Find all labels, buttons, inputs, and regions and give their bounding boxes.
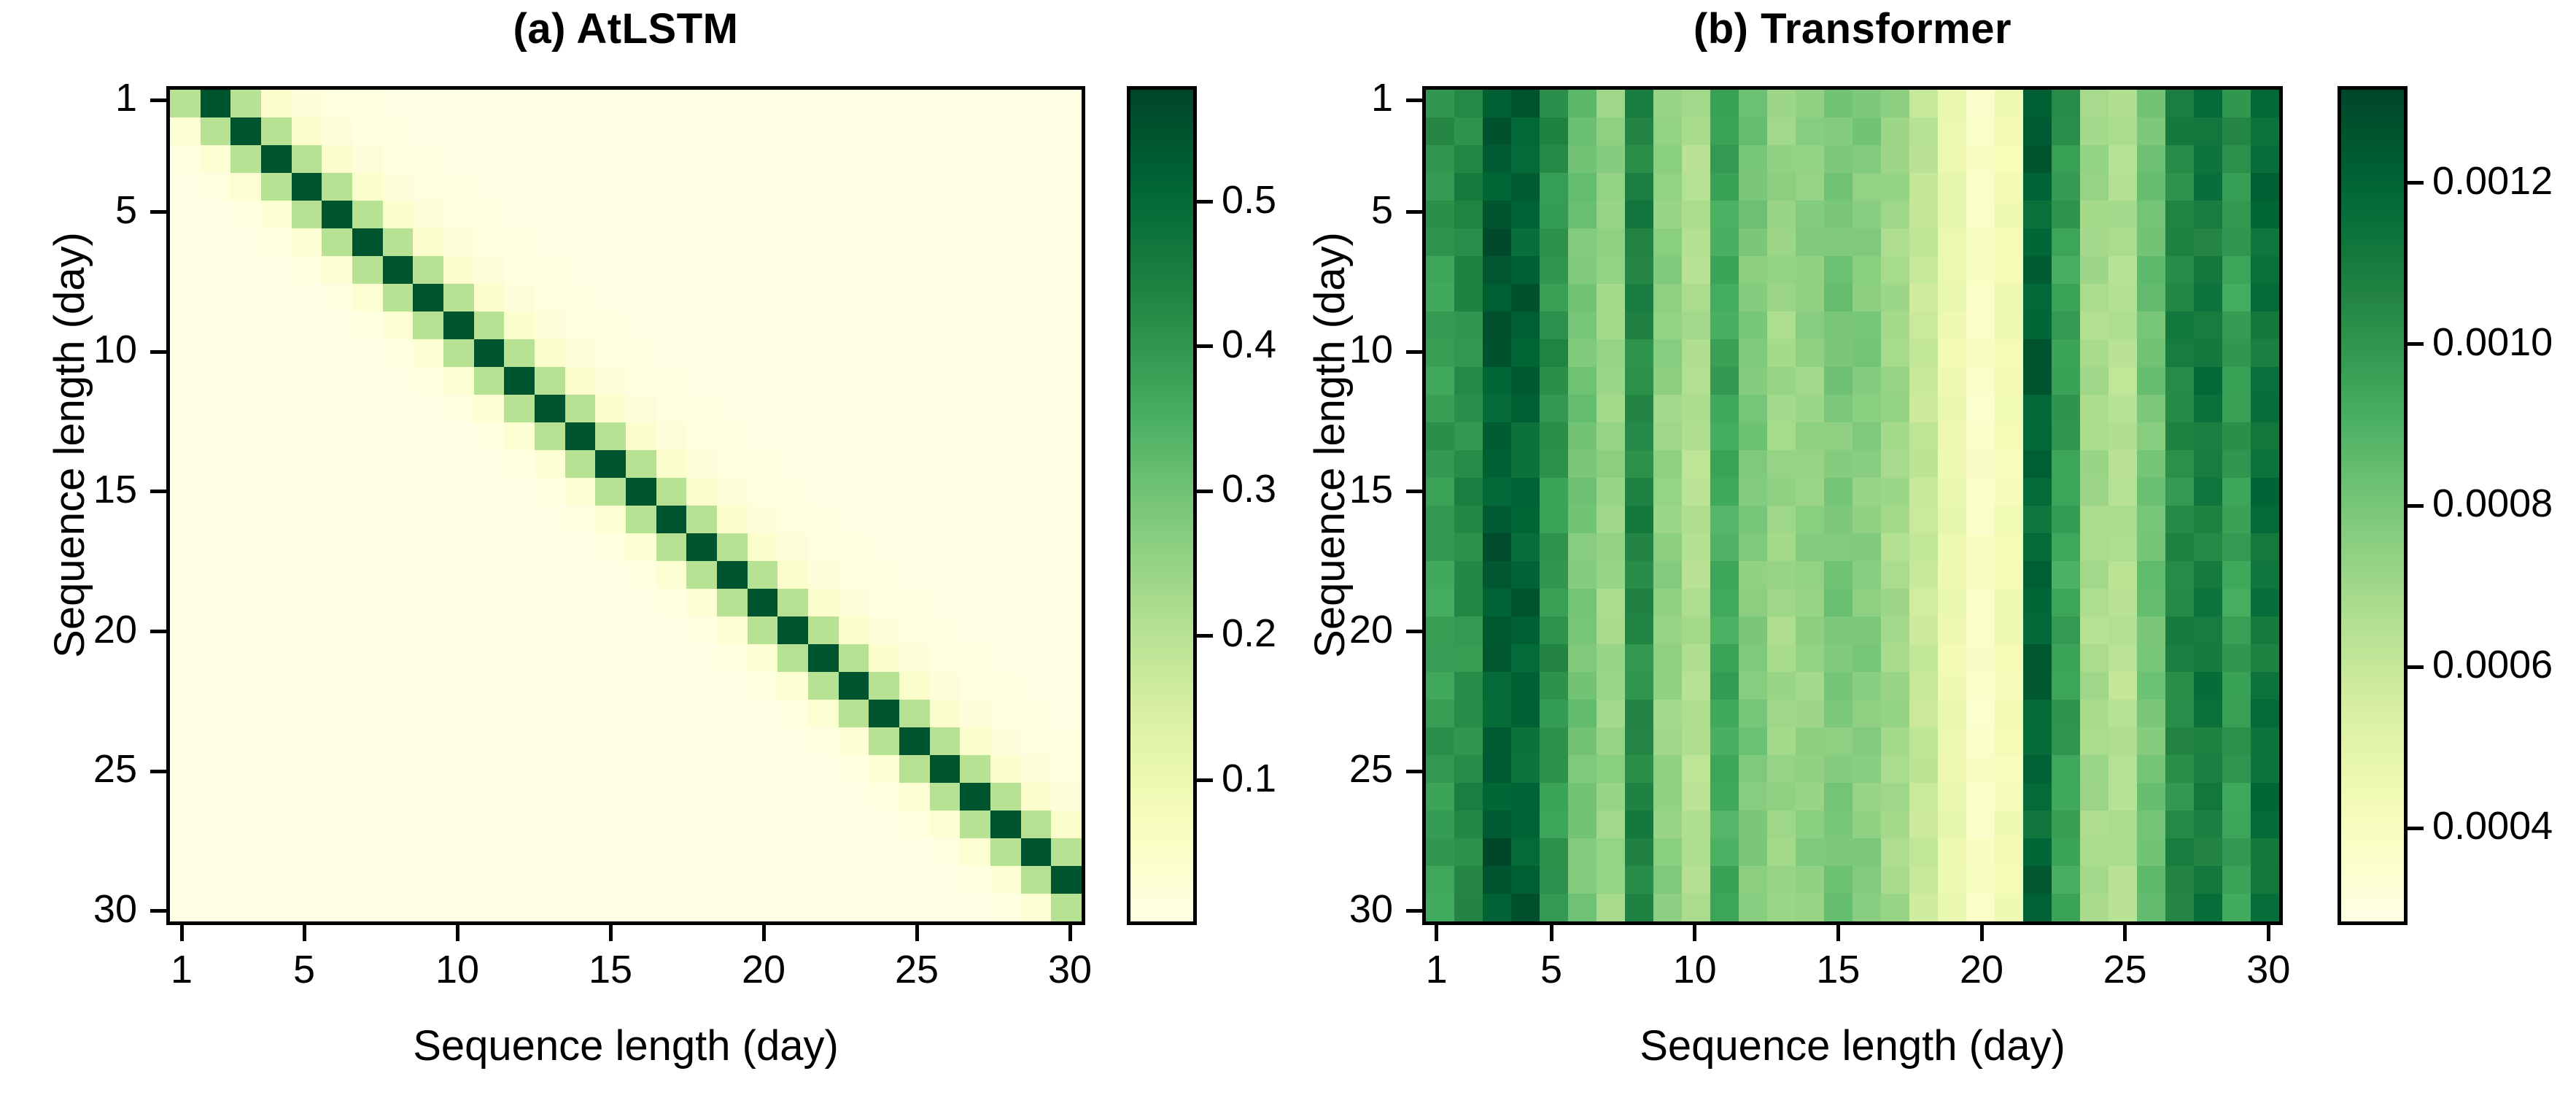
- x-tick: [1836, 925, 1840, 941]
- heatmap-b-cell: [1710, 727, 1739, 755]
- heatmap-a-cell: [443, 312, 474, 339]
- heatmap-b-cell: [1739, 422, 1767, 450]
- heatmap-a-cell: [1021, 561, 1052, 589]
- heatmap-b-cell: [1710, 395, 1739, 422]
- heatmap-b-cell: [1881, 422, 1909, 450]
- heatmap-a-cell: [869, 145, 899, 173]
- heatmap-a-cell: [535, 589, 565, 616]
- heatmap-a-cell: [686, 256, 717, 284]
- heatmap-a-cell: [686, 395, 717, 422]
- heatmap-b-cell: [1767, 339, 1796, 367]
- heatmap-b-cell: [1824, 755, 1853, 783]
- heatmap-b-cell: [1767, 312, 1796, 339]
- heatmap-a-cell: [201, 450, 231, 478]
- heatmap-a-cell: [1021, 755, 1052, 783]
- heatmap-a-cell: [261, 783, 292, 811]
- heatmap-b-cell: [1597, 284, 1625, 312]
- heatmap-b-cell: [1426, 589, 1454, 616]
- heatmap-a-cell: [261, 90, 292, 117]
- heatmap-b-cell: [1540, 284, 1568, 312]
- heatmap-b-cell: [1881, 367, 1909, 395]
- heatmap-a-cell: [990, 312, 1021, 339]
- heatmap-b-cell: [1909, 811, 1938, 838]
- heatmap-b-cell: [1426, 256, 1454, 284]
- heatmap-b-cell: [1483, 894, 1511, 921]
- heatmap-a-cell: [595, 727, 626, 755]
- heatmap-b-cell: [1796, 145, 1824, 173]
- heatmap-b-cell: [1454, 284, 1483, 312]
- heatmap-a-cell: [322, 173, 352, 201]
- heatmap-a-cell: [170, 783, 201, 811]
- heatmap-a-cell: [443, 228, 474, 256]
- heatmap-a-cell: [869, 783, 899, 811]
- heatmap-b-cell: [1454, 672, 1483, 700]
- heatmap-b-cell: [2251, 173, 2279, 201]
- heatmap-b-cell: [1938, 228, 1966, 256]
- heatmap-a-cell: [626, 228, 656, 256]
- heatmap-b-cell: [1938, 90, 1966, 117]
- heatmap-b-cell: [2080, 284, 2108, 312]
- heatmap-b-cell: [1597, 533, 1625, 561]
- heatmap-b-cell: [1426, 90, 1454, 117]
- heatmap-b-cell: [2023, 422, 2052, 450]
- heatmap-b-cell: [2137, 755, 2165, 783]
- heatmap-b-cell: [1511, 117, 1540, 145]
- heatmap-a-cell: [899, 117, 930, 145]
- heatmap-a-cell: [383, 755, 414, 783]
- heatmap-a-cell: [656, 117, 687, 145]
- heatmap-a-cell: [686, 228, 717, 256]
- heatmap-b-cell: [1909, 672, 1938, 700]
- heatmap-b-cell: [1710, 90, 1739, 117]
- heatmap-b-cell: [1682, 145, 1710, 173]
- heatmap-b-cell: [2052, 422, 2080, 450]
- colorbar-tick: [2408, 342, 2424, 346]
- heatmap-b-cell: [1511, 450, 1540, 478]
- heatmap-b-cell: [1966, 312, 1995, 339]
- heatmap-a-cell: [899, 616, 930, 644]
- heatmap-a-cell: [595, 589, 626, 616]
- heatmap-a-cell: [748, 450, 778, 478]
- heatmap-b-cell: [1483, 117, 1511, 145]
- heatmap-a-cell: [565, 173, 596, 201]
- heatmap-b-cell: [1966, 367, 1995, 395]
- heatmap-b-cell: [1540, 339, 1568, 367]
- heatmap-b-cell: [2251, 561, 2279, 589]
- heatmap-b-cell: [1966, 672, 1995, 700]
- heatmap-a-cell: [930, 616, 961, 644]
- heatmap-b-cell: [1966, 506, 1995, 533]
- heatmap-a-cell: [990, 339, 1021, 367]
- heatmap-b-cell: [1739, 256, 1767, 284]
- heatmap-b-cell: [2251, 866, 2279, 894]
- heatmap-b-cell: [1454, 811, 1483, 838]
- heatmap-a-cell: [717, 117, 748, 145]
- heatmap-b-cell: [1966, 450, 1995, 478]
- heatmap-b-cell: [2052, 117, 2080, 145]
- heatmap-b-cell: [1739, 672, 1767, 700]
- heatmap-a-cell: [869, 117, 899, 145]
- heatmap-b-cell: [1454, 145, 1483, 173]
- heatmap-a-cell: [960, 284, 990, 312]
- heatmap-b-cell: [2251, 533, 2279, 561]
- heatmap-a-cell: [656, 589, 687, 616]
- heatmap-b-cell: [2222, 256, 2251, 284]
- heatmap-a-cell: [990, 672, 1021, 700]
- heatmap-a-cell: [960, 395, 990, 422]
- heatmap-b-cell: [1682, 339, 1710, 367]
- heatmap-a-cell: [686, 173, 717, 201]
- heatmap-a-cell: [565, 145, 596, 173]
- heatmap-a-cell: [413, 312, 443, 339]
- heatmap-a-cell: [230, 755, 261, 783]
- heatmap-a-cell: [170, 894, 201, 921]
- heatmap-b-cell: [1454, 117, 1483, 145]
- heatmap-a-cell: [777, 395, 808, 422]
- heatmap-a-cell: [777, 145, 808, 173]
- heatmap-a-cell: [869, 478, 899, 506]
- heatmap-b-cell: [2251, 228, 2279, 256]
- heatmap-b-cell: [2194, 755, 2222, 783]
- heatmap-b-cell: [1909, 894, 1938, 921]
- heatmap-b-cell: [1454, 90, 1483, 117]
- heatmap-a-cell: [748, 90, 778, 117]
- heatmap-a-cell: [474, 561, 505, 589]
- heatmap-b-cell: [2080, 90, 2108, 117]
- heatmap-a-cell: [535, 145, 565, 173]
- heatmap-b-cell: [2222, 284, 2251, 312]
- heatmap-a-cell: [170, 312, 201, 339]
- heatmap-b-cell: [1767, 256, 1796, 284]
- heatmap-a-cell: [504, 866, 535, 894]
- heatmap-a-cell: [504, 727, 535, 755]
- heatmap-a-cell: [626, 533, 656, 561]
- heatmap-a-cell: [960, 866, 990, 894]
- heatmap-b-cell: [1426, 727, 1454, 755]
- heatmap-a-cell: [1051, 339, 1082, 367]
- heatmap-a-cell: [443, 367, 474, 395]
- heatmap-a-cell: [748, 811, 778, 838]
- heatmap-a-cell: [717, 589, 748, 616]
- heatmap-a-cell: [930, 866, 961, 894]
- heatmap-a-cell: [535, 173, 565, 201]
- heatmap-a-cell: [1021, 727, 1052, 755]
- heatmap-a-cell: [261, 616, 292, 644]
- heatmap-a-cell: [261, 422, 292, 450]
- heatmap-b-cell: [1540, 700, 1568, 727]
- heatmap-a-cell: [230, 561, 261, 589]
- heatmap-b-cell: [2023, 506, 2052, 533]
- heatmap-a-cell: [292, 838, 322, 866]
- heatmap-a-cell: [170, 811, 201, 838]
- heatmap-a-cell: [535, 561, 565, 589]
- heatmap-b-cell: [1767, 616, 1796, 644]
- heatmap-b-cell: [2108, 312, 2137, 339]
- heatmap-b-cell: [2251, 894, 2279, 921]
- heatmap-b-cell: [2023, 727, 2052, 755]
- heatmap-a-cell: [170, 561, 201, 589]
- heatmap-a-cell: [474, 145, 505, 173]
- heatmap-b-cell: [1767, 783, 1796, 811]
- heatmap-a-cell: [748, 478, 778, 506]
- heatmap-a-cell: [292, 589, 322, 616]
- heatmap-a-cell: [1021, 395, 1052, 422]
- heatmap-b-cell: [1454, 894, 1483, 921]
- heatmap-b-cell: [1625, 644, 1653, 672]
- heatmap-a-cell: [565, 700, 596, 727]
- x-tick: [180, 925, 184, 941]
- heatmap-b-cell: [2108, 117, 2137, 145]
- heatmap-a-cell: [261, 838, 292, 866]
- heatmap-a-cell: [777, 256, 808, 284]
- heatmap-a-cell: [930, 811, 961, 838]
- heatmap-b-cell: [2251, 700, 2279, 727]
- heatmap-a-cell: [201, 700, 231, 727]
- heatmap-b-cell: [1625, 228, 1653, 256]
- heatmap-b-cell: [1767, 395, 1796, 422]
- x-tick: [915, 925, 919, 941]
- heatmap-b-cell: [1597, 727, 1625, 755]
- heatmap-a-cell: [1051, 589, 1082, 616]
- heatmap-a-cell: [201, 838, 231, 866]
- heatmap-b-cell: [1568, 312, 1597, 339]
- heatmap-b-cell: [1796, 117, 1824, 145]
- colorbar-tick: [2408, 504, 2424, 508]
- heatmap-b-cell: [1597, 173, 1625, 201]
- heatmap-a-cell: [1021, 173, 1052, 201]
- heatmap-a-cell: [322, 395, 352, 422]
- heatmap-b-cell: [1597, 117, 1625, 145]
- heatmap-b-cell: [1909, 256, 1938, 284]
- heatmap-a-cell: [1021, 783, 1052, 811]
- heatmap-b-cell: [1597, 838, 1625, 866]
- heatmap-a-cell: [352, 755, 383, 783]
- heatmap-b-cell: [2023, 672, 2052, 700]
- heatmap-b-cell: [1511, 367, 1540, 395]
- heatmap-a-cell: [930, 672, 961, 700]
- heatmap-a-cell: [352, 284, 383, 312]
- heatmap-b-cell: [2137, 395, 2165, 422]
- heatmap-b-cell: [1653, 561, 1682, 589]
- heatmap-b-cell: [1739, 284, 1767, 312]
- heatmap-b-cell: [2052, 589, 2080, 616]
- heatmap-b-cell: [1853, 644, 1881, 672]
- heatmap-a-cell: [322, 145, 352, 173]
- heatmap-b-cell: [1966, 90, 1995, 117]
- heatmap-a-cell: [474, 644, 505, 672]
- heatmap-b-cell: [1966, 727, 1995, 755]
- heatmap-a-cell: [990, 838, 1021, 866]
- heatmap-a-cell: [474, 727, 505, 755]
- heatmap-a-cell: [839, 783, 869, 811]
- heatmap-b-cell: [1739, 533, 1767, 561]
- heatmap-b-cell: [1739, 312, 1767, 339]
- heatmap-b-cell: [1796, 755, 1824, 783]
- heatmap-b-cell: [1739, 395, 1767, 422]
- heatmap-a-cell: [990, 811, 1021, 838]
- heatmap-b-cell: [2137, 145, 2165, 173]
- heatmap-b-cell: [1682, 589, 1710, 616]
- heatmap-b-cell: [1653, 256, 1682, 284]
- heatmap-a-cell: [352, 894, 383, 921]
- heatmap-b-cell: [1739, 616, 1767, 644]
- heatmap-a-cell: [717, 173, 748, 201]
- heatmap-a-cell: [748, 894, 778, 921]
- heatmap-b-cell: [1511, 727, 1540, 755]
- heatmap-b-cell: [2165, 644, 2194, 672]
- heatmap-b-cell: [2194, 811, 2222, 838]
- heatmap-b-cell: [2080, 700, 2108, 727]
- heatmap-a-cell: [717, 145, 748, 173]
- heatmap-b-cell: [2251, 312, 2279, 339]
- heatmap-a-cell: [443, 755, 474, 783]
- heatmap-b-cell: [1483, 644, 1511, 672]
- heatmap-a-cell: [413, 117, 443, 145]
- heatmap-a-cell: [474, 700, 505, 727]
- heatmap-b-cell: [1995, 755, 2023, 783]
- heatmap-a-cell: [899, 755, 930, 783]
- x-tick: [303, 925, 306, 941]
- heatmap-a-cell: [717, 755, 748, 783]
- heatmap-b-cell: [2108, 506, 2137, 533]
- heatmap-b-cell: [1767, 228, 1796, 256]
- heatmap-b-cell: [2108, 422, 2137, 450]
- heatmap-a-cell: [808, 866, 839, 894]
- heatmap-a-cell: [748, 422, 778, 450]
- heatmap-b-cell: [1966, 201, 1995, 228]
- heatmap-b-cell: [1625, 145, 1653, 173]
- heatmap-a-cell: [626, 90, 656, 117]
- heatmap-b-cell: [2222, 783, 2251, 811]
- heatmap-a-cell: [1051, 866, 1082, 894]
- y-tick: [150, 770, 166, 773]
- heatmap-b-cell: [2251, 117, 2279, 145]
- heatmap-b-cell: [1653, 117, 1682, 145]
- heatmap-b-cell: [1881, 561, 1909, 589]
- heatmap-a-cell: [1021, 533, 1052, 561]
- panel-b-ylabel: Sequence length (day): [1306, 80, 1354, 810]
- heatmap-b-cell: [1511, 838, 1540, 866]
- heatmap-a-cell: [960, 755, 990, 783]
- heatmap-b-cell: [1767, 201, 1796, 228]
- heatmap-a-cell: [170, 838, 201, 866]
- heatmap-b-cell: [1767, 90, 1796, 117]
- heatmap-a-cell: [869, 422, 899, 450]
- heatmap-b-cell: [2052, 866, 2080, 894]
- heatmap-b-cell: [2194, 228, 2222, 256]
- heatmap-a-cell: [565, 866, 596, 894]
- heatmap-a-cell: [777, 644, 808, 672]
- heatmap-a-cell: [535, 284, 565, 312]
- heatmap-b-cell: [1995, 450, 2023, 478]
- heatmap-a-cell: [990, 450, 1021, 478]
- heatmap-b-cell: [1426, 450, 1454, 478]
- heatmap-a-cell: [292, 644, 322, 672]
- heatmap-a-cell: [535, 838, 565, 866]
- heatmap-a-cell: [413, 533, 443, 561]
- heatmap-a-cell: [383, 256, 414, 284]
- heatmap-b-cell: [1881, 90, 1909, 117]
- heatmap-a-cell: [656, 783, 687, 811]
- heatmap-b-cell: [2222, 672, 2251, 700]
- heatmap-b-cell: [1767, 117, 1796, 145]
- heatmap-a-cell: [626, 589, 656, 616]
- heatmap-a-cell: [777, 228, 808, 256]
- heatmap-a-cell: [352, 312, 383, 339]
- heatmap-b-cell: [1739, 700, 1767, 727]
- heatmap-b-cell: [2194, 284, 2222, 312]
- x-tick: [2267, 925, 2270, 941]
- heatmap-a-cell: [170, 727, 201, 755]
- heatmap-a-cell: [201, 755, 231, 783]
- heatmap-a-cell: [748, 228, 778, 256]
- heatmap-b-cell: [1995, 339, 2023, 367]
- heatmap-b-cell: [1511, 90, 1540, 117]
- x-tick-label: 10: [1644, 947, 1746, 992]
- heatmap-b-cell: [1710, 312, 1739, 339]
- heatmap-a-cell: [990, 256, 1021, 284]
- heatmap-b-cell: [1540, 201, 1568, 228]
- heatmap-b-cell: [2023, 533, 2052, 561]
- heatmap-a-cell: [230, 866, 261, 894]
- heatmap-b-cell: [1966, 395, 1995, 422]
- heatmap-a-cell: [1021, 256, 1052, 284]
- heatmap-b-cell: [1511, 228, 1540, 256]
- heatmap-a-cell: [808, 811, 839, 838]
- heatmap-b-cell: [1483, 422, 1511, 450]
- heatmap-a-cell: [504, 506, 535, 533]
- heatmap-a-cell: [170, 478, 201, 506]
- heatmap-b-cell: [1426, 395, 1454, 422]
- heatmap-a-cell: [899, 90, 930, 117]
- heatmap-a-cell: [201, 228, 231, 256]
- heatmap-a-cell: [656, 478, 687, 506]
- heatmap-b-cell: [1824, 228, 1853, 256]
- heatmap-a-cell: [474, 395, 505, 422]
- heatmap-b-cell: [1796, 866, 1824, 894]
- x-tick-label: 20: [1931, 947, 2033, 992]
- heatmap-b-cell: [1511, 506, 1540, 533]
- heatmap-a-cell: [170, 117, 201, 145]
- heatmap-a-cell: [261, 589, 292, 616]
- heatmap-b-cell: [1853, 339, 1881, 367]
- heatmap-a-cell: [1051, 173, 1082, 201]
- heatmap-b-cell: [1739, 339, 1767, 367]
- heatmap-b-cell: [1426, 117, 1454, 145]
- heatmap-a-cell: [261, 811, 292, 838]
- heatmap-b-cell: [1511, 284, 1540, 312]
- heatmap-b-cell: [1824, 533, 1853, 561]
- heatmap-b-cell: [2165, 672, 2194, 700]
- heatmap-a-cell: [686, 561, 717, 589]
- heatmap-a-cell: [352, 672, 383, 700]
- heatmap-b-cell: [2052, 672, 2080, 700]
- heatmap-b-cell: [1796, 644, 1824, 672]
- heatmap-b-cell: [1796, 894, 1824, 921]
- heatmap-a-cell: [443, 339, 474, 367]
- heatmap-a-cell: [261, 367, 292, 395]
- heatmap-a-cell: [1021, 700, 1052, 727]
- heatmap-b-cell: [1796, 450, 1824, 478]
- heatmap-a-cell: [474, 339, 505, 367]
- heatmap-b-cell: [1767, 561, 1796, 589]
- heatmap-a-cell: [899, 339, 930, 367]
- heatmap-b-cell: [2080, 117, 2108, 145]
- heatmap-a-cell: [383, 866, 414, 894]
- heatmap-a-cell: [443, 672, 474, 700]
- heatmap-b-cell: [2222, 866, 2251, 894]
- heatmap-b-cell: [1625, 755, 1653, 783]
